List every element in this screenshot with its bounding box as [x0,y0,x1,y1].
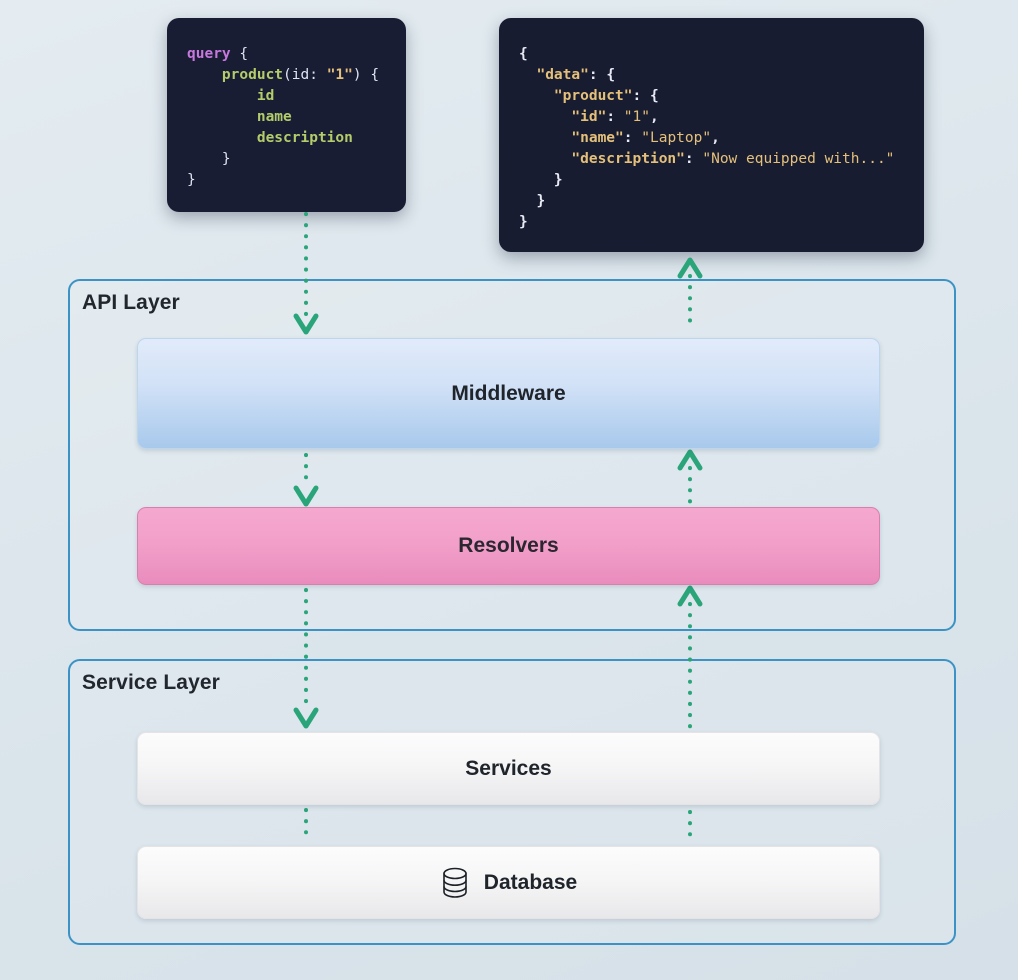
query-line: id [187,86,406,107]
response-token: } [554,172,563,188]
query-indent [187,67,222,83]
response-indent [519,109,571,125]
response-token: } [519,214,528,230]
node-services-label: Services [465,757,551,781]
query-indent [187,130,257,146]
arrowhead-up-icon [680,260,700,276]
query-line: product(id: "1") { [187,65,406,86]
query-line: query { [187,44,406,65]
response-token: "id" [571,109,606,125]
response-token: : [624,130,641,146]
response-token: : [606,109,623,125]
response-token: } [536,193,545,209]
response-indent [519,88,554,104]
response-token: "Now equipped with..." [702,151,894,167]
response-line: { [519,44,924,65]
response-token: , [711,130,720,146]
response-line: "description": "Now equipped with..." [519,149,924,170]
response-token: { [519,46,528,62]
response-indent [519,151,571,167]
node-resolvers-label: Resolvers [458,534,558,558]
graphql-response-panel: { "data": { "product": { "id": "1", "nam… [499,18,924,252]
query-token: id [257,88,274,104]
query-token: ) { [353,67,379,83]
query-token: query [187,46,239,62]
query-token: name [257,109,292,125]
query-indent [187,109,257,125]
diagram-canvas: query { product(id: "1") { id name descr… [0,0,1018,980]
response-token: "description" [571,151,685,167]
query-token: (id: [283,67,327,83]
response-token: : [685,151,702,167]
response-token: : { [589,67,615,83]
query-line: description [187,128,406,149]
query-indent [187,151,222,167]
response-line: "id": "1", [519,107,924,128]
node-database[interactable]: Database [137,846,880,919]
database-cylinder-icon [440,866,470,900]
response-token: "data" [536,67,588,83]
response-indent [519,67,536,83]
query-token: description [257,130,353,146]
response-token: "name" [571,130,623,146]
response-token: "product" [554,88,633,104]
query-line: name [187,107,406,128]
query-token: "1" [327,67,353,83]
query-token: } [187,172,196,188]
response-token: , [650,109,659,125]
response-line: "data": { [519,65,924,86]
query-token: } [222,151,231,167]
response-line: } [519,212,924,233]
response-line: "product": { [519,86,924,107]
query-line: } [187,170,406,191]
response-line: } [519,170,924,191]
response-token: "1" [624,109,650,125]
response-indent [519,193,536,209]
node-resolvers[interactable]: Resolvers [137,507,880,585]
api-layer-title: API Layer [82,291,180,315]
response-line: } [519,191,924,212]
query-token: { [239,46,248,62]
response-token: "Laptop" [641,130,711,146]
query-token: product [222,67,283,83]
service-layer-title: Service Layer [82,671,220,695]
node-database-label: Database [484,871,577,895]
graphql-query-panel: query { product(id: "1") { id name descr… [167,18,406,212]
query-indent [187,88,257,104]
response-indent [519,130,571,146]
query-line: } [187,149,406,170]
node-middleware-label: Middleware [451,382,565,406]
response-indent [519,172,554,188]
response-line: "name": "Laptop", [519,128,924,149]
node-middleware[interactable]: Middleware [137,338,880,449]
node-services[interactable]: Services [137,732,880,805]
response-token: : { [633,88,659,104]
